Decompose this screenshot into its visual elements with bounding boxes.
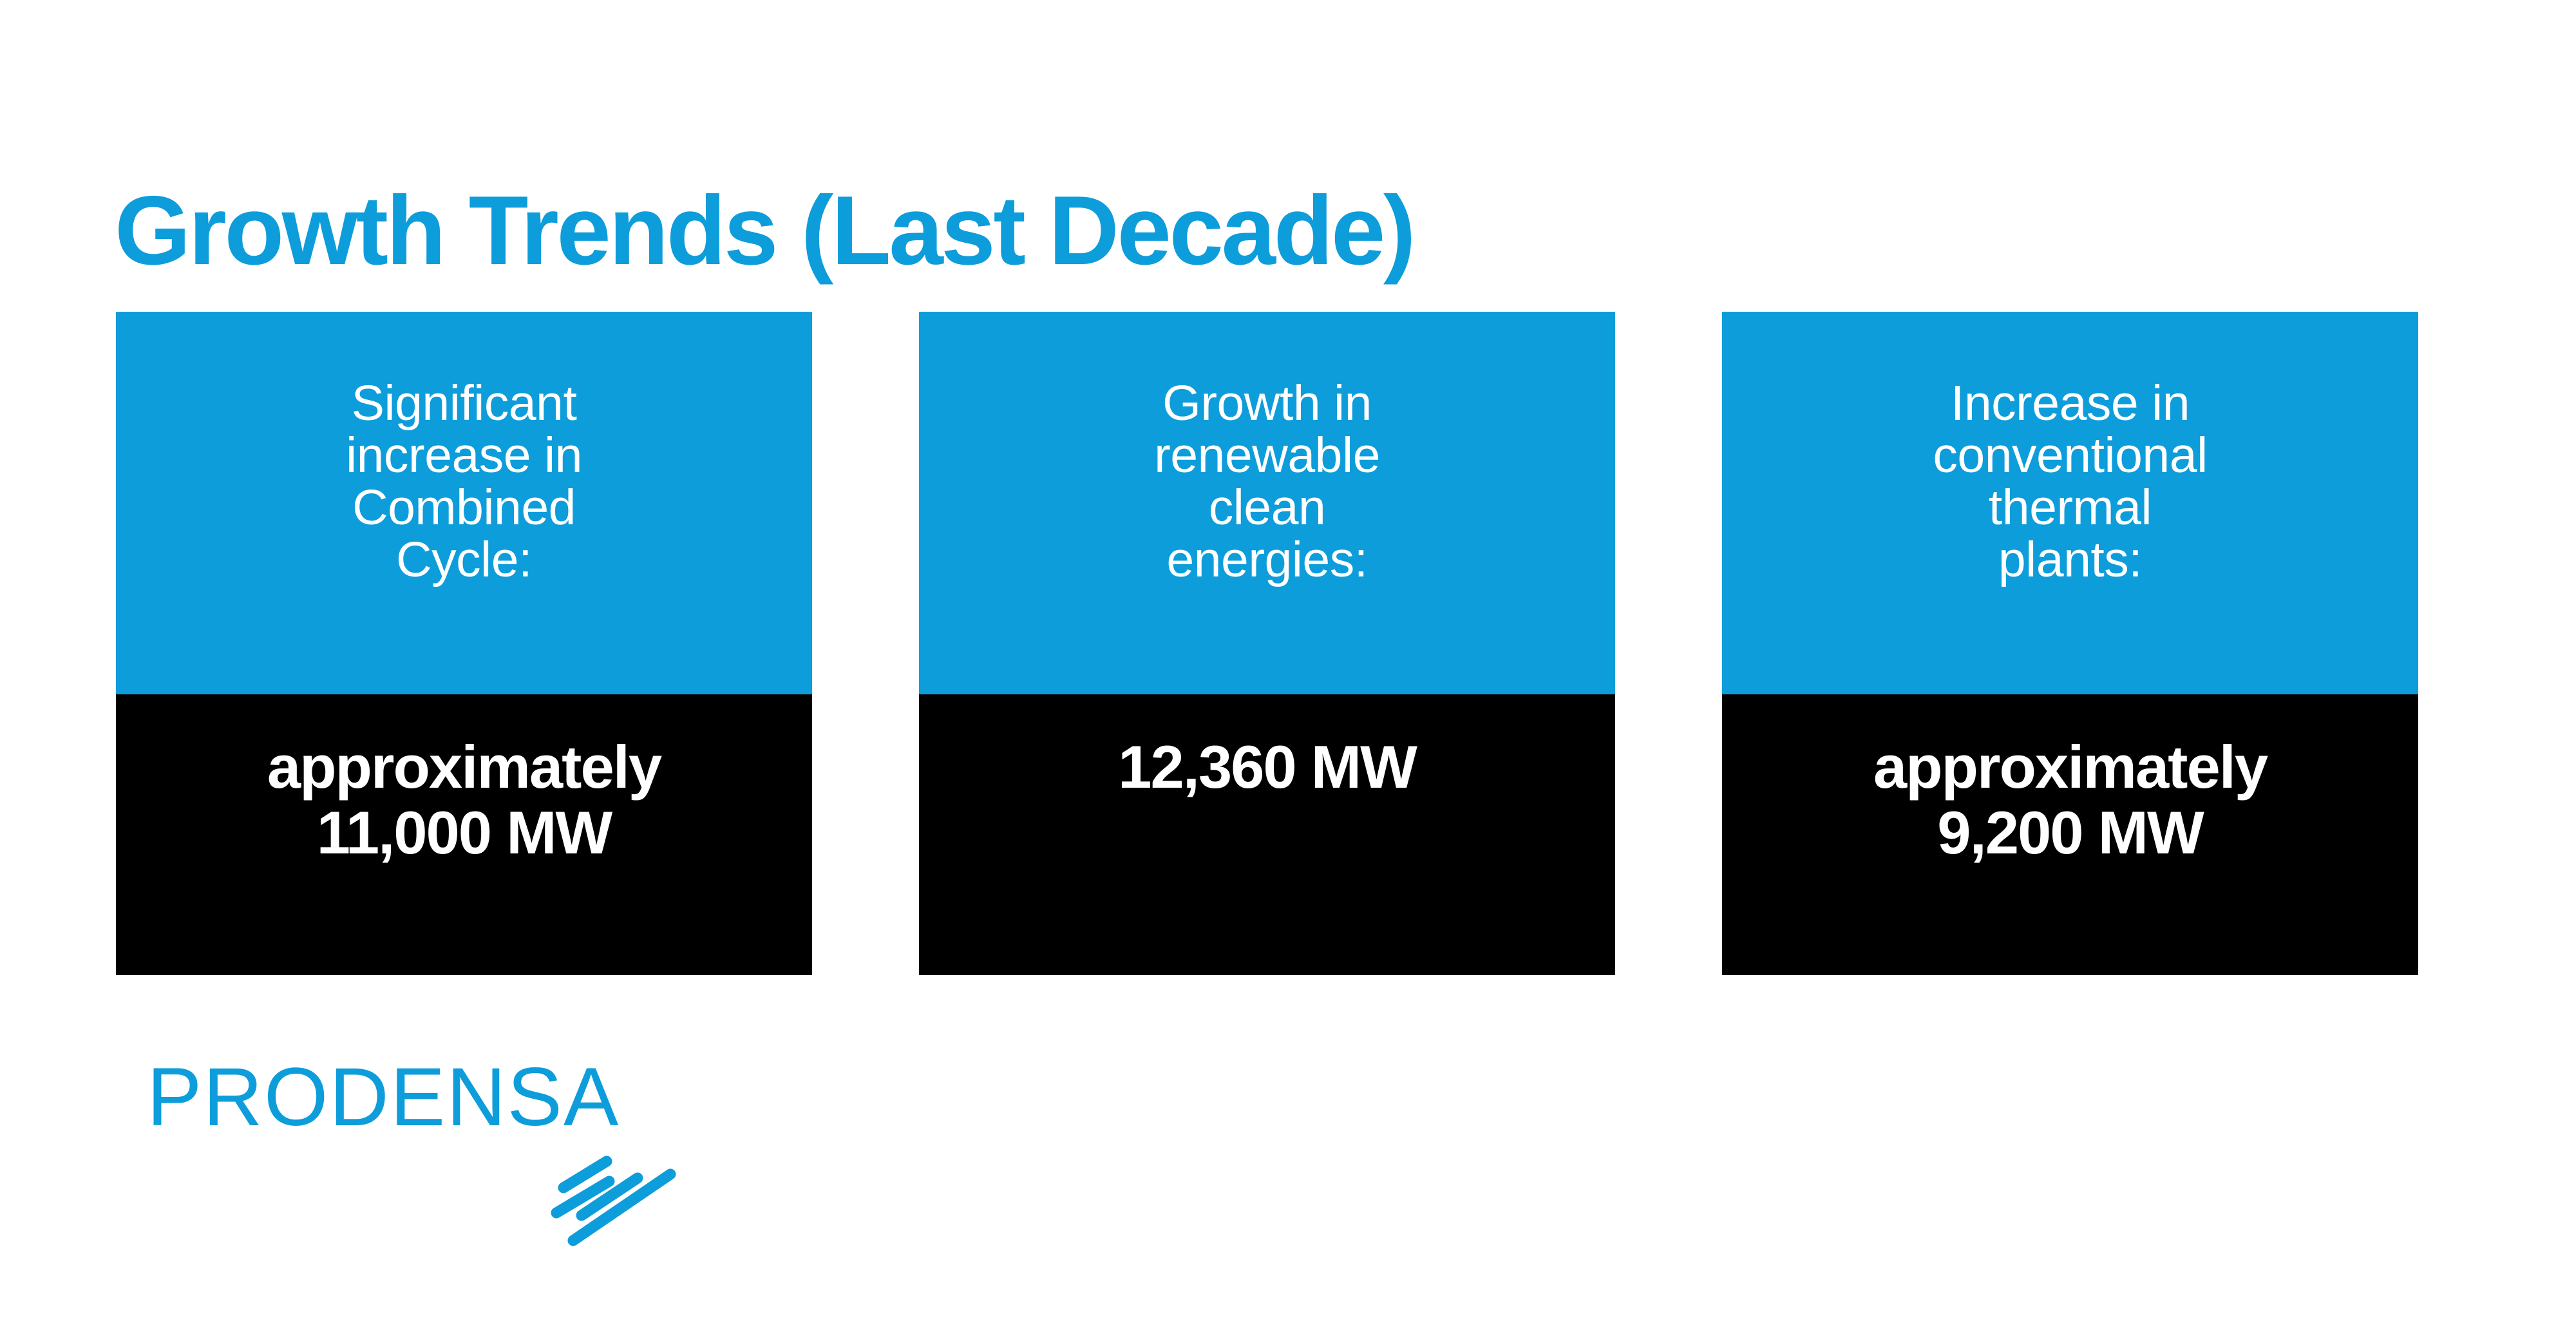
stat-card-value-panel: 12,360 MW (919, 694, 1615, 975)
stat-card-label: Increase in conventional thermal plants: (1933, 377, 2207, 585)
stat-card-value: 12,360 MW (1118, 734, 1416, 800)
stat-card-value-panel: approximately 9,200 MW (1722, 694, 2418, 975)
stat-card-value: approximately 11,000 MW (267, 734, 661, 865)
stat-card-value: approximately 9,200 MW (1873, 734, 2267, 865)
stat-card: Increase in conventional thermal plants:… (1722, 312, 2418, 975)
page-title: Growth Trends (Last Decade) (115, 182, 2304, 280)
prodensa-logo: PRODENSA (147, 1056, 726, 1269)
stat-card-header: Increase in conventional thermal plants: (1722, 312, 2418, 694)
logo-wordmark: PRODENSA (147, 1056, 620, 1139)
stat-card: Significant increase in Combined Cycle: … (116, 312, 812, 975)
stat-card-row: Significant increase in Combined Cycle: … (116, 312, 2438, 975)
stat-card-header: Significant increase in Combined Cycle: (116, 312, 812, 694)
stat-card-header: Growth in renewable clean energies: (919, 312, 1615, 694)
stat-card: Growth in renewable clean energies: 12,3… (919, 312, 1615, 975)
four-diagonal-slashes-icon (546, 1146, 694, 1266)
slide-root: Growth Trends (Last Decade) Significant … (0, 0, 2576, 1341)
stat-card-label: Significant increase in Combined Cycle: (346, 377, 582, 585)
stat-card-label: Growth in renewable clean energies: (1154, 377, 1380, 585)
stat-card-value-panel: approximately 11,000 MW (116, 694, 812, 975)
